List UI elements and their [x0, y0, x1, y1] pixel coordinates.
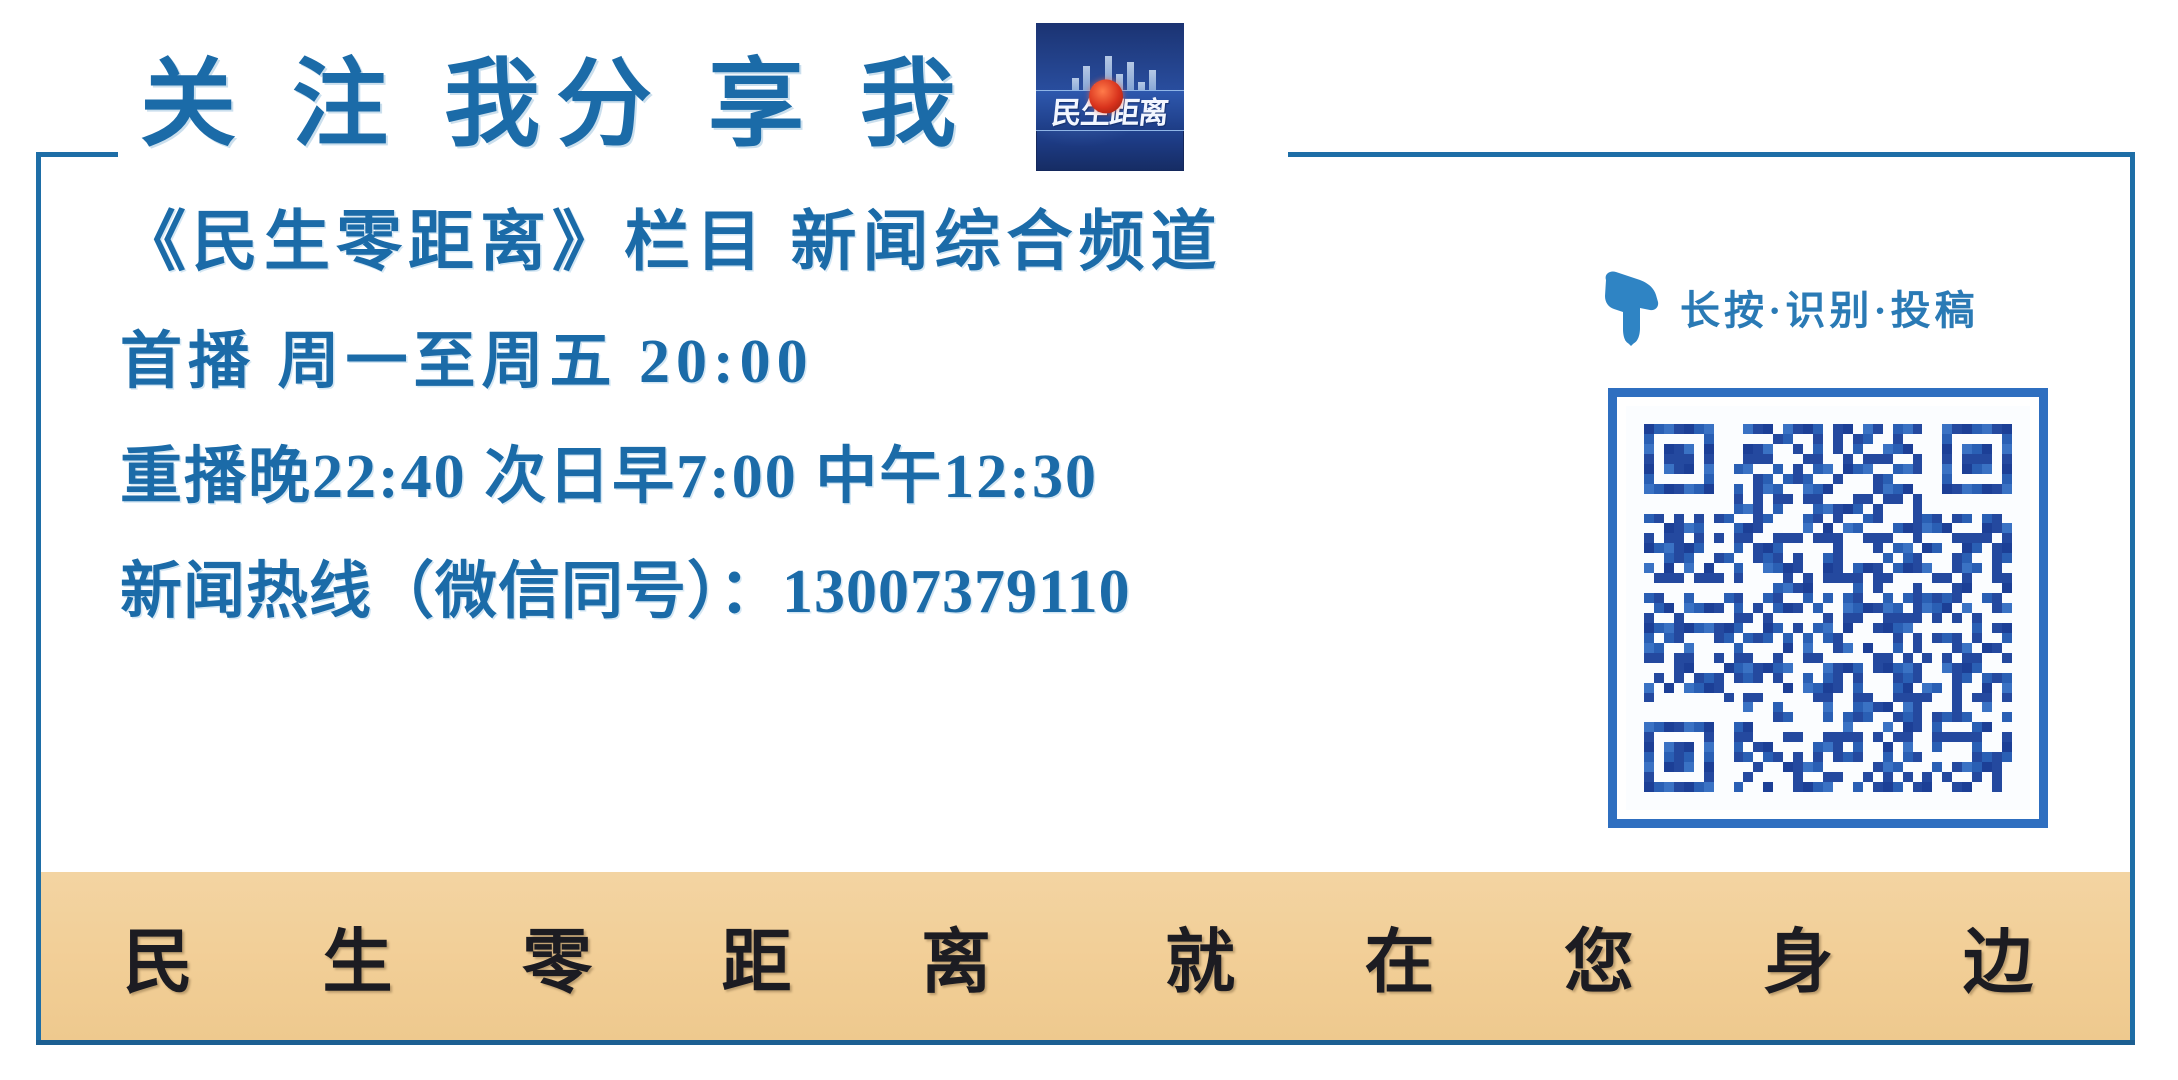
slogan-left-text: 民 生 零 距 离 [123, 906, 1047, 1007]
news-hotline-line: 新闻热线（微信同号）：13007379110 [120, 540, 1131, 630]
qr-code[interactable] [1608, 388, 2048, 828]
pointing-down-hand-icon [1600, 268, 1662, 346]
slogan-bar: 民 生 零 距 离 就 在 您 身 边 [41, 872, 2130, 1040]
headline-row: 关 注 我 分 享 我 [140, 40, 940, 170]
frame-top-right-segment [1288, 152, 2135, 157]
frame-top-left-segment [36, 152, 118, 157]
scan-hint-row: 长按·识别·投稿 [1600, 268, 1979, 346]
qr-modules [1644, 424, 2012, 792]
premiere-schedule-line: 首播 周一至周五 20:00 [120, 310, 814, 400]
slogan-right-text: 就 在 您 身 边 [1165, 906, 2089, 1007]
scan-hint-label: 长按·识别·投稿 [1680, 278, 1979, 336]
share-me-label: 分 享 我 [556, 57, 972, 153]
program-logo-thumbnail: 民生距离 [1036, 23, 1184, 171]
follow-me-label: 关 注 我 [140, 57, 556, 153]
frame-bottom-edge [36, 1040, 2135, 1045]
promo-card: 关 注 我 分 享 我 民生距离 《民生零距离》栏目 新闻综合频道 首播 周一至… [0, 0, 2178, 1080]
rerun-schedule-line: 重播晚22:40 次日早7:00 中午12:30 [120, 425, 1098, 515]
logo-swirl-icon [1089, 79, 1123, 113]
frame-right-edge [2130, 152, 2135, 1044]
program-title-line: 《民生零距离》栏目 新闻综合频道 [120, 188, 1223, 284]
